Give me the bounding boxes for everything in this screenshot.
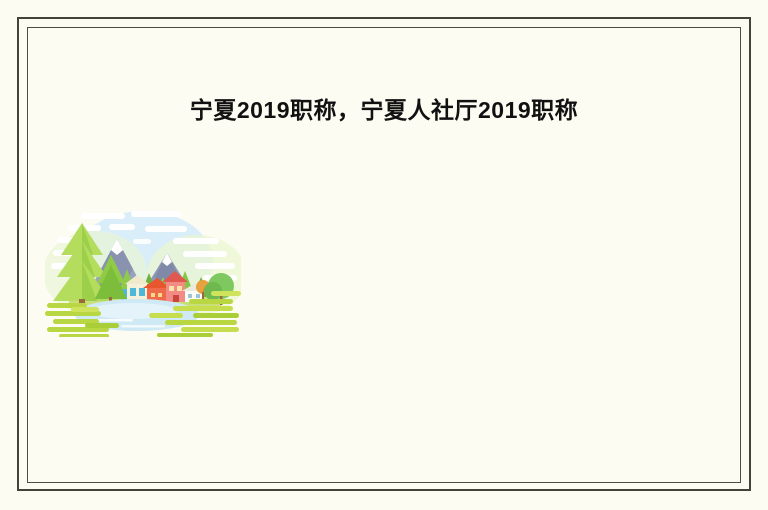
page-title: 宁夏2019职称，宁夏人社厅2019职称 (0, 94, 768, 126)
house-pink-door (173, 295, 179, 302)
house-pink-window (169, 286, 174, 291)
house-white-window-2 (196, 294, 200, 298)
house-cream-window (130, 288, 136, 296)
landscape-illustration (45, 203, 241, 337)
house-pink-window-2 (177, 286, 182, 291)
house-cream-window-2 (139, 288, 145, 296)
landscape-illustration-svg (45, 203, 241, 337)
house-red-window-2 (158, 293, 162, 297)
article-page: 宁夏2019职称，宁夏人社厅2019职称 (0, 0, 768, 510)
house-red-window (151, 293, 155, 297)
house-white-window (188, 294, 192, 298)
